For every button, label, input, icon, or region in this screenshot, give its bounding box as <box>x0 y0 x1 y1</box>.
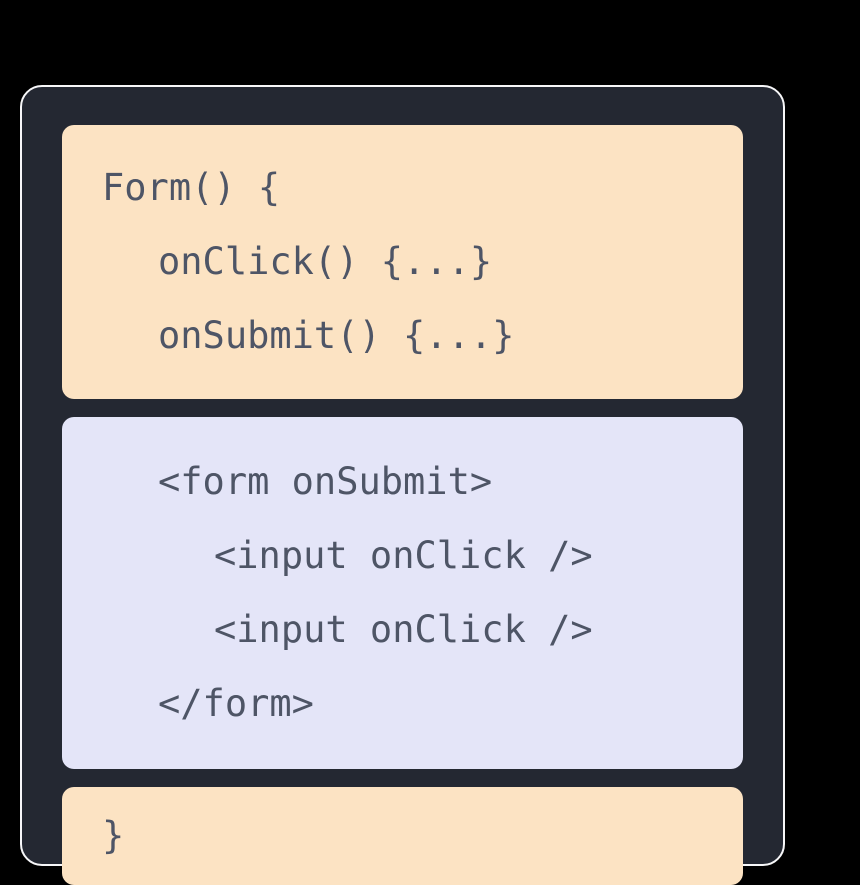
code-line: onClick() {...} <box>62 225 743 299</box>
code-block-component-definition-top: Form() { onClick() {...} onSubmit() {...… <box>62 125 743 399</box>
code-line: <form onSubmit> <box>62 445 743 519</box>
code-line: </form> <box>62 667 743 741</box>
code-panel: Form() { onClick() {...} onSubmit() {...… <box>20 85 785 866</box>
code-line: <input onClick /> <box>62 519 743 593</box>
code-block-component-definition-close: } <box>62 787 743 885</box>
code-line: } <box>62 799 743 873</box>
code-line: <input onClick /> <box>62 593 743 667</box>
code-block-markup-return: <form onSubmit> <input onClick /> <input… <box>62 417 743 769</box>
code-line: onSubmit() {...} <box>62 299 743 373</box>
code-line: Form() { <box>62 151 743 225</box>
screenshot-canvas: Form() { onClick() {...} onSubmit() {...… <box>0 0 860 874</box>
